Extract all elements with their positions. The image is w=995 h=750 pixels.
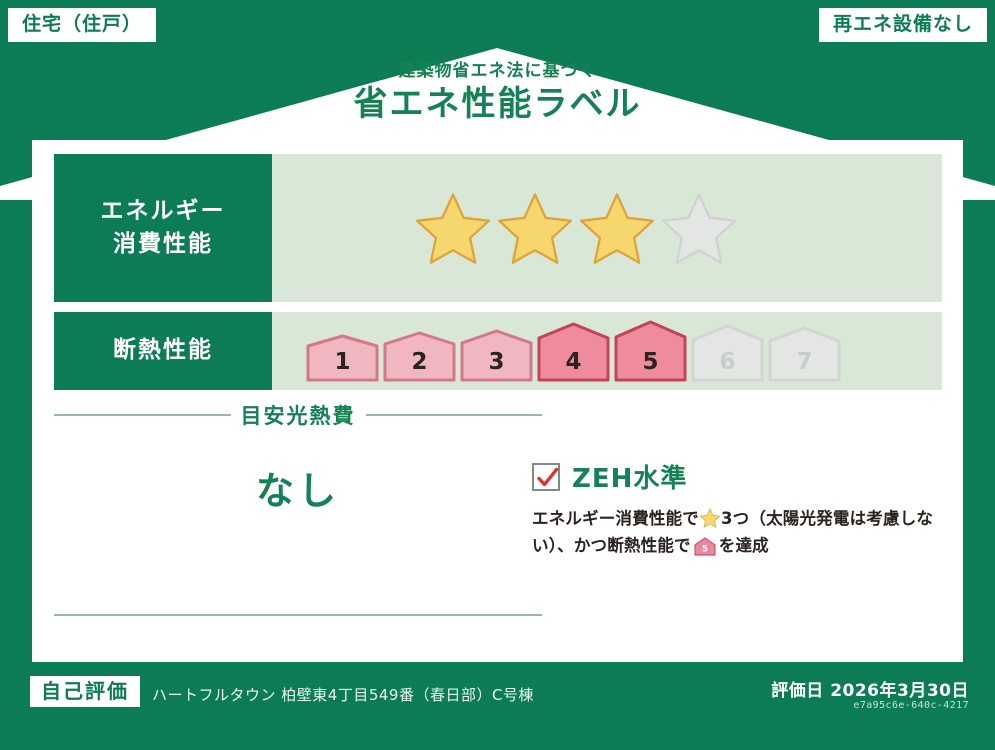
insulation-level-5: 5 (614, 320, 687, 382)
energy-label-root: 住宅（住戸） 再エネ設備なし 建築物省エネ法に基づく 省エネ性能ラベル エネルギ… (0, 0, 995, 750)
utility-cost-underline (54, 614, 542, 616)
evaluation-date: 評価日 2026年3月30日 (771, 676, 969, 701)
zeh-desc-part1: エネルギー消費性能で (532, 509, 699, 528)
zeh-description: エネルギー消費性能で 3つ（太陽光発電は考慮しない）、かつ断熱性能で 5 を達成 (532, 506, 942, 559)
inline-star-icon (700, 508, 720, 528)
page-title: 省エネ性能ラベル (0, 83, 995, 126)
renewable-energy-tab: 再エネ設備なし (819, 8, 987, 42)
zeh-standard-block: ZEH水準 エネルギー消費性能で 3つ（太陽光発電は考慮しない）、かつ断熱性能で… (532, 458, 942, 559)
insulation-performance-label: 断熱性能 (54, 312, 272, 390)
building-type-tab: 住宅（住戸） (8, 8, 156, 42)
label-footer: 自己評価 ハートフルタウン 柏壁東4丁目549番（春日部）C号棟 評価日 202… (0, 662, 995, 750)
utility-cost-heading: 目安光熱費 (54, 402, 542, 428)
label-card: エネルギー 消費性能 断熱性能 1234567 目安光熱費 なし (32, 140, 963, 662)
heading-rule-right (366, 414, 543, 416)
insulation-level-text: 7 (796, 349, 812, 375)
utility-cost-heading-text: 目安光熱費 (241, 400, 356, 430)
insulation-performance-body: 1234567 (272, 312, 942, 390)
energy-performance-label: エネルギー 消費性能 (54, 154, 272, 302)
insulation-level-6: 6 (691, 324, 764, 382)
insulation-level-text: 6 (719, 349, 735, 375)
insulation-level-1: 1 (306, 334, 379, 382)
zeh-desc-part4: を達成 (719, 536, 769, 555)
inline-house-level-text: 5 (702, 544, 708, 554)
insulation-level-text: 5 (642, 349, 658, 375)
insulation-label-text: 断熱性能 (113, 334, 213, 367)
insulation-level-text: 3 (488, 349, 504, 375)
zeh-checkbox[interactable] (532, 463, 560, 491)
insulation-level-7: 7 (768, 326, 841, 382)
inline-house-level-icon: 5 (694, 537, 716, 556)
insulation-performance-row: 断熱性能 1234567 (54, 312, 942, 390)
insulation-level-scale: 1234567 (306, 320, 841, 382)
check-icon (535, 465, 561, 491)
zeh-title: ZEH水準 (572, 458, 687, 495)
star-filled-icon (580, 191, 654, 265)
star-filled-icon (416, 191, 490, 265)
self-evaluation-badge: 自己評価 (30, 676, 140, 707)
insulation-level-text: 1 (334, 349, 350, 375)
title-block: 建築物省エネ法に基づく 省エネ性能ラベル (0, 62, 995, 125)
insulation-level-4: 4 (537, 322, 610, 382)
insulation-level-text: 2 (411, 349, 427, 375)
star-rating (416, 191, 736, 265)
energy-label-line1: エネルギー (101, 195, 226, 228)
zeh-desc-part2: 3つ（太陽光発電 (721, 509, 850, 528)
title-subtitle: 建築物省エネ法に基づく (0, 62, 995, 81)
star-empty-icon (662, 191, 736, 265)
zeh-header: ZEH水準 (532, 458, 942, 495)
insulation-level-text: 4 (565, 349, 581, 375)
evaluation-date-label: 評価日 (771, 681, 824, 701)
insulation-level-3: 3 (460, 329, 533, 382)
star-filled-icon (498, 191, 572, 265)
energy-performance-body (272, 154, 942, 302)
property-name: ハートフルタウン 柏壁東4丁目549番（春日部）C号棟 (152, 684, 534, 705)
evaluation-id: e7a95c6e-640c-4217 (853, 700, 969, 711)
heading-rule-left (54, 414, 231, 416)
energy-label-line2: 消費性能 (113, 228, 213, 261)
insulation-level-2: 2 (383, 331, 456, 382)
utility-cost-value: なし (54, 460, 542, 515)
energy-performance-row: エネルギー 消費性能 (54, 154, 942, 302)
evaluation-date-value: 2026年3月30日 (830, 681, 969, 701)
